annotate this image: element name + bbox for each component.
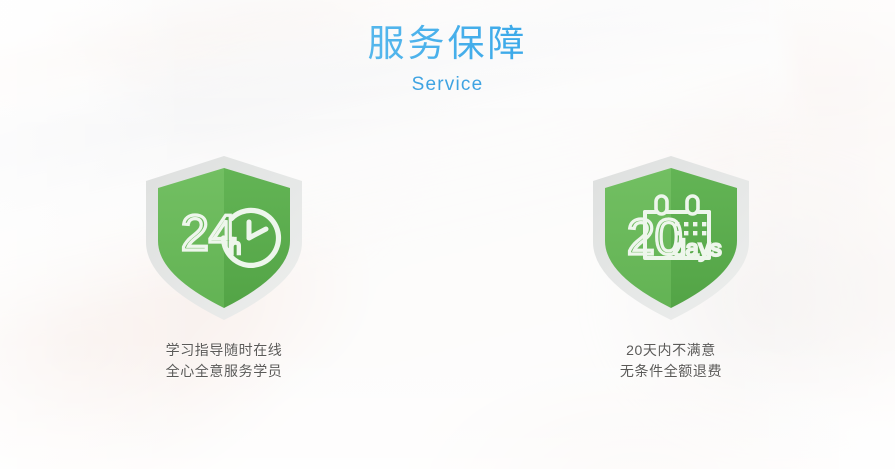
caption-line-2: 全心全意服务学员 (166, 361, 283, 382)
caption-line-1: 学习指导随时在线 (166, 340, 283, 361)
shield-calendar-20days-icon: 20 days (583, 150, 759, 326)
caption-line-1: 20天内不满意 (620, 340, 722, 361)
guarantee-card-list: 24 h 学习指导随时在线 全心全意服务学员 (0, 150, 895, 382)
guarantee-card-refund-20days: 20 days 20天内不满意 无条件全额退费 (448, 150, 895, 382)
badge-unit-days: days (673, 235, 722, 261)
guarantee-card-service-24h: 24 h 学习指导随时在线 全心全意服务学员 (1, 150, 448, 382)
shield-clock-24h-icon: 24 h (136, 150, 312, 326)
guarantee-caption: 20天内不满意 无条件全额退费 (620, 340, 722, 382)
guarantee-caption: 学习指导随时在线 全心全意服务学员 (166, 340, 283, 382)
section-header: 服务保障 Service (0, 22, 895, 96)
page-subtitle: Service (0, 74, 895, 96)
service-guarantee-banner: 服务保障 Service (0, 0, 895, 469)
badge-unit-h: h (229, 234, 241, 259)
caption-line-2: 无条件全额退费 (620, 361, 722, 382)
page-title: 服务保障 (0, 22, 895, 66)
